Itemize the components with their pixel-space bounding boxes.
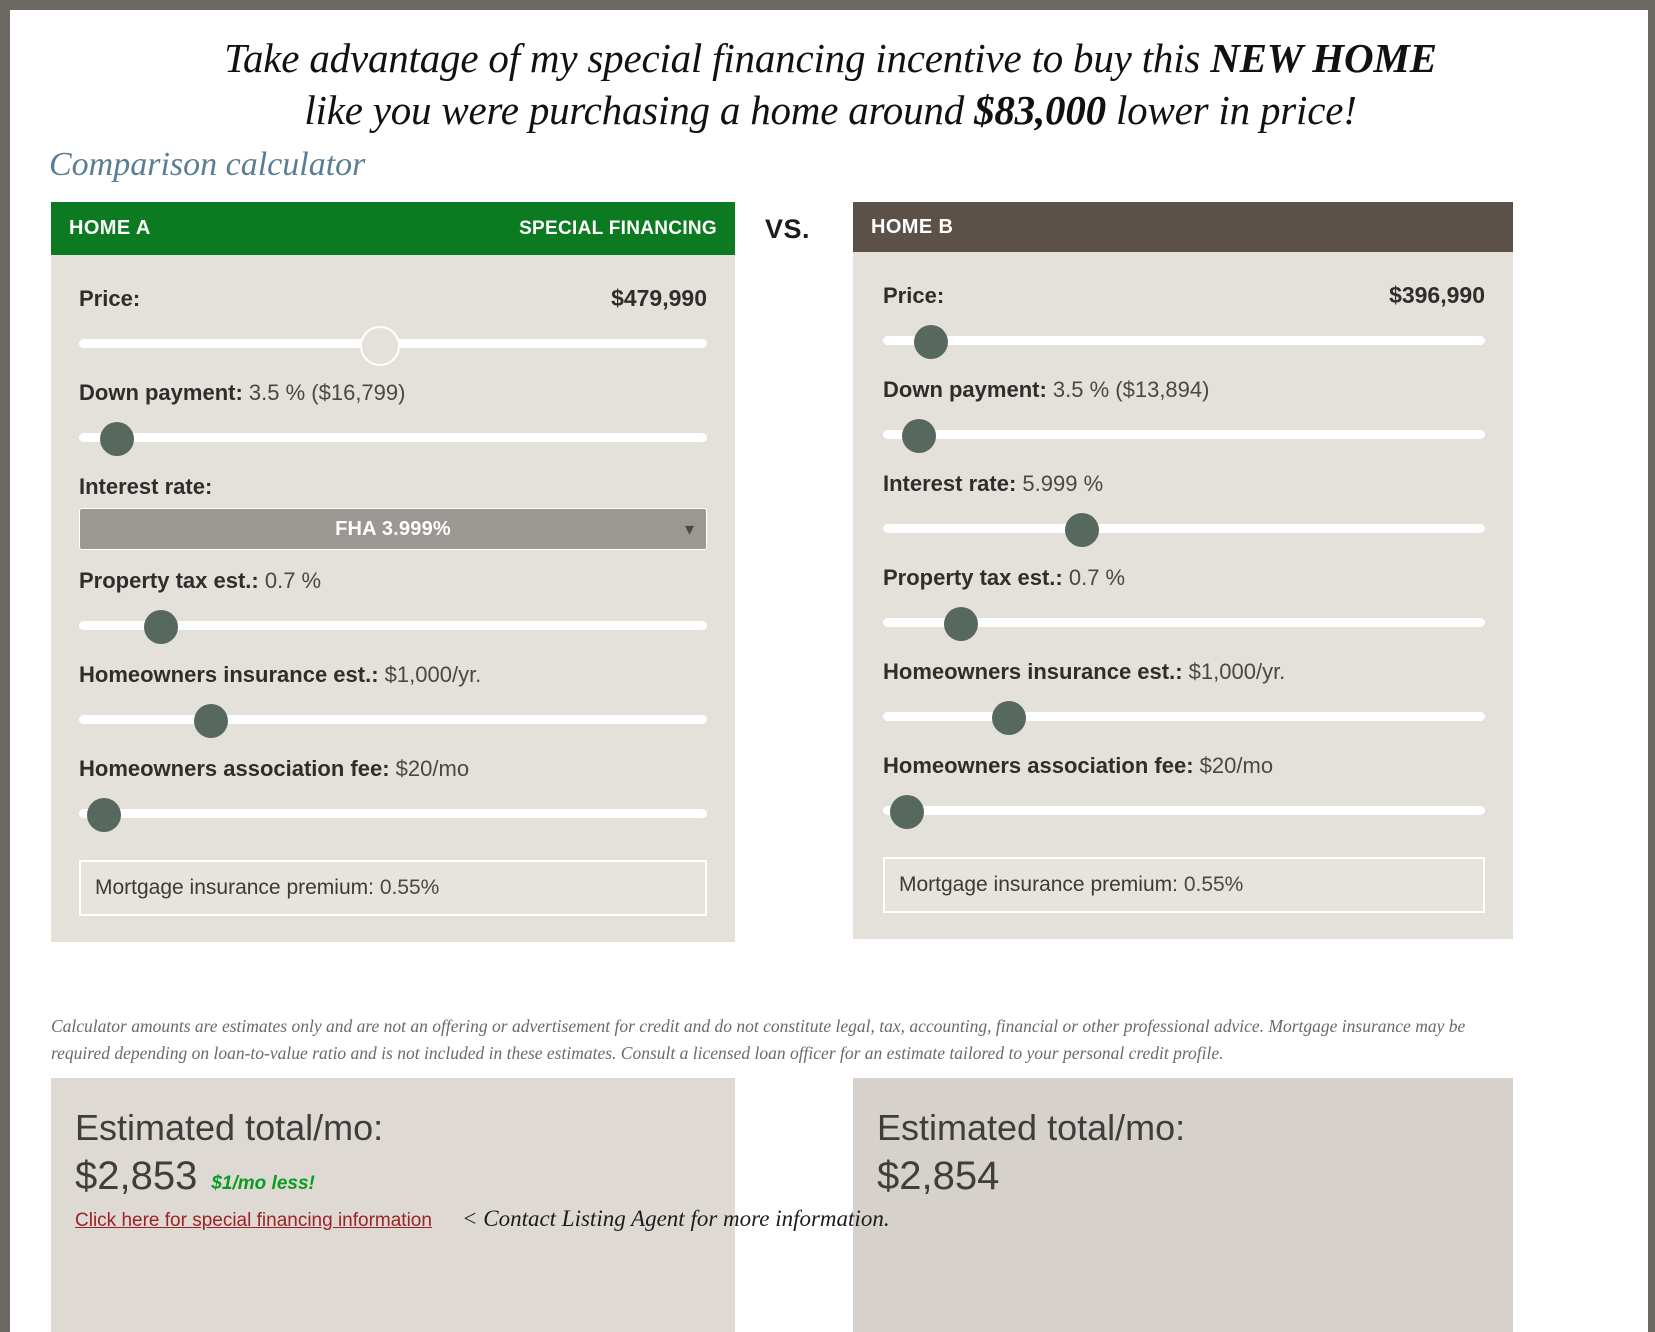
home-b-down-payment-value: 3.5 % ($13,894) bbox=[1053, 377, 1210, 402]
slider-thumb[interactable] bbox=[944, 607, 978, 641]
slider-thumb[interactable] bbox=[890, 795, 924, 829]
home-a-down-payment-row: Down payment: 3.5 % ($16,799) bbox=[79, 366, 707, 456]
home-b-insurance-row: Homeowners insurance est.: $1,000/yr. bbox=[883, 645, 1485, 735]
slider-track[interactable] bbox=[883, 524, 1485, 533]
home-b-property-tax-slider[interactable] bbox=[883, 603, 1485, 641]
home-a-body: Price: $479,990 Down payment: 3.5 % ($16… bbox=[51, 255, 735, 942]
home-a-panel: HOME A SPECIAL FINANCING Price: $479,990 bbox=[51, 202, 735, 942]
home-b-panel: HOME B Price: $396,990 Down payment: bbox=[853, 202, 1513, 939]
home-b-down-payment-row: Down payment: 3.5 % ($13,894) bbox=[883, 363, 1485, 453]
slider-thumb[interactable] bbox=[1065, 513, 1099, 547]
home-a-savings-badge: $1/mo less! bbox=[211, 1173, 315, 1195]
headline-line-2: like you were purchasing a home around $… bbox=[73, 84, 1588, 136]
slider-track[interactable] bbox=[883, 712, 1485, 721]
slider-thumb[interactable] bbox=[87, 798, 121, 832]
home-a-property-tax-value: 0.7 % bbox=[265, 568, 321, 593]
home-a-hoa-value: $20/mo bbox=[396, 756, 469, 781]
home-a-insurance-slider[interactable] bbox=[79, 700, 707, 738]
home-b-down-payment-slider[interactable] bbox=[883, 415, 1485, 453]
home-a-hoa-slider[interactable] bbox=[79, 794, 707, 832]
home-b-insurance-slider[interactable] bbox=[883, 697, 1485, 735]
slider-thumb[interactable] bbox=[992, 701, 1026, 735]
home-b-property-tax-value: 0.7 % bbox=[1069, 565, 1125, 590]
home-a-price-slider[interactable] bbox=[79, 324, 707, 362]
slider-thumb[interactable] bbox=[144, 610, 178, 644]
slider-track[interactable] bbox=[883, 430, 1485, 439]
home-b-interest-rate-slider[interactable] bbox=[883, 509, 1485, 547]
home-a-down-payment-slider[interactable] bbox=[79, 418, 707, 456]
home-b-title: HOME B bbox=[871, 216, 953, 239]
home-a-hoa-row: Homeowners association fee: $20/mo bbox=[79, 742, 707, 832]
home-b-property-tax-row: Property tax est.: 0.7 % bbox=[883, 551, 1485, 641]
home-a-total-label: Estimated total/mo: bbox=[75, 1106, 711, 1150]
home-a-hoa-label: Homeowners association fee: bbox=[79, 756, 390, 781]
home-b-hoa-slider[interactable] bbox=[883, 791, 1485, 829]
comparison-calculator: VS. HOME A SPECIAL FINANCING Price: $479… bbox=[13, 202, 1648, 1002]
home-a-interest-rate-label-row: Interest rate: bbox=[79, 460, 707, 500]
home-a-total-amount: $2,853 bbox=[75, 1154, 197, 1199]
home-b-body: Price: $396,990 Down payment: 3.5 % ($13… bbox=[853, 252, 1513, 939]
home-b-mortgage-insurance-box: Mortgage insurance premium: 0.55% bbox=[883, 857, 1485, 913]
home-a-down-payment-label-row: Down payment: 3.5 % ($16,799) bbox=[79, 366, 707, 406]
home-a-price-label: Price: bbox=[79, 286, 140, 312]
home-a-header: HOME A SPECIAL FINANCING bbox=[51, 202, 735, 255]
vs-label: VS. bbox=[765, 214, 810, 245]
slider-track[interactable] bbox=[883, 336, 1485, 345]
home-a-down-payment-value: 3.5 % ($16,799) bbox=[249, 380, 406, 405]
headline-line-2-suffix: lower in price! bbox=[1106, 87, 1357, 133]
home-b-hoa-label: Homeowners association fee: bbox=[883, 753, 1194, 778]
home-b-insurance-label-row: Homeowners insurance est.: $1,000/yr. bbox=[883, 645, 1485, 685]
home-b-price-row: Price: $396,990 bbox=[883, 268, 1485, 359]
home-b-price-value: $396,990 bbox=[1389, 282, 1485, 309]
home-a-interest-rate-label: Interest rate: bbox=[79, 474, 212, 500]
contact-agent-note: < Contact Listing Agent for more informa… bbox=[462, 1206, 890, 1232]
home-b-property-tax-label: Property tax est.: bbox=[883, 565, 1063, 590]
slider-thumb[interactable] bbox=[914, 325, 948, 359]
home-b-property-tax-label-row: Property tax est.: 0.7 % bbox=[883, 551, 1485, 591]
home-a-property-tax-label: Property tax est.: bbox=[79, 568, 259, 593]
special-financing-badge: SPECIAL FINANCING bbox=[519, 218, 717, 240]
home-b-interest-rate-row: Interest rate: 5.999 % bbox=[883, 457, 1485, 547]
slider-thumb[interactable] bbox=[360, 326, 400, 366]
home-a-total-card: Estimated total/mo: $2,853 $1/mo less! bbox=[51, 1078, 735, 1332]
home-a-interest-rate-select[interactable]: FHA 3.999% ▾ bbox=[79, 508, 707, 550]
home-b-insurance-value: $1,000/yr. bbox=[1189, 659, 1286, 684]
home-a-insurance-row: Homeowners insurance est.: $1,000/yr. bbox=[79, 648, 707, 738]
home-a-insurance-label-row: Homeowners insurance est.: $1,000/yr. bbox=[79, 648, 707, 688]
home-a-interest-rate-selected: FHA 3.999% bbox=[335, 518, 451, 541]
home-a-insurance-value: $1,000/yr. bbox=[385, 662, 482, 687]
home-b-price-slider[interactable] bbox=[883, 321, 1485, 359]
home-a-mortgage-insurance-label: Mortgage insurance premium: bbox=[95, 876, 374, 899]
home-a-hoa-label-row: Homeowners association fee: $20/mo bbox=[79, 742, 707, 782]
home-b-total-card: Estimated total/mo: $2,854 bbox=[853, 1078, 1513, 1332]
slider-thumb[interactable] bbox=[194, 704, 228, 738]
home-a-price-row: Price: $479,990 bbox=[79, 271, 707, 362]
home-b-down-payment-label-row: Down payment: 3.5 % ($13,894) bbox=[883, 363, 1485, 403]
headline-line-1-emphasis: NEW HOME bbox=[1210, 35, 1437, 81]
home-a-property-tax-label-row: Property tax est.: 0.7 % bbox=[79, 554, 707, 594]
home-b-total-amount-row: $2,854 bbox=[877, 1154, 1489, 1199]
home-b-total-label: Estimated total/mo: bbox=[877, 1106, 1489, 1150]
home-b-hoa-row: Homeowners association fee: $20/mo bbox=[883, 739, 1485, 829]
home-b-price-label-row: Price: $396,990 bbox=[883, 268, 1485, 309]
home-b-interest-rate-label-row: Interest rate: 5.999 % bbox=[883, 457, 1485, 497]
slider-track[interactable] bbox=[79, 715, 707, 724]
home-b-price-label: Price: bbox=[883, 283, 944, 309]
page-title: Comparison calculator bbox=[13, 136, 1648, 184]
home-b-header: HOME B bbox=[853, 202, 1513, 252]
home-b-insurance-label: Homeowners insurance est.: bbox=[883, 659, 1183, 684]
headline-line-2-emphasis: $83,000 bbox=[974, 87, 1106, 133]
home-a-property-tax-row: Property tax est.: 0.7 % bbox=[79, 554, 707, 644]
calculator-disclaimer: Calculator amounts are estimates only an… bbox=[51, 1013, 1513, 1067]
slider-track[interactable] bbox=[79, 809, 707, 818]
promo-headline: Take advantage of my special financing i… bbox=[13, 10, 1648, 136]
home-a-mortgage-insurance-value: 0.55% bbox=[380, 876, 440, 899]
home-b-hoa-label-row: Homeowners association fee: $20/mo bbox=[883, 739, 1485, 779]
home-a-price-value: $479,990 bbox=[611, 285, 707, 312]
home-b-down-payment-label: Down payment: bbox=[883, 377, 1047, 402]
home-b-mortgage-insurance-value: 0.55% bbox=[1184, 873, 1244, 896]
home-a-mortgage-insurance-box: Mortgage insurance premium: 0.55% bbox=[79, 860, 707, 916]
slider-thumb[interactable] bbox=[902, 419, 936, 453]
home-a-title: HOME A bbox=[69, 217, 151, 240]
home-a-insurance-label: Homeowners insurance est.: bbox=[79, 662, 379, 687]
headline-line-1-text: Take advantage of my special financing i… bbox=[224, 35, 1210, 81]
page-frame: Take advantage of my special financing i… bbox=[10, 10, 1648, 1332]
special-financing-link[interactable]: Click here for special financing informa… bbox=[75, 1210, 432, 1232]
footer-links: Click here for special financing informa… bbox=[75, 1206, 890, 1232]
slider-track[interactable] bbox=[79, 433, 707, 442]
home-b-hoa-value: $20/mo bbox=[1200, 753, 1273, 778]
slider-thumb[interactable] bbox=[100, 422, 134, 456]
headline-line-2-text: like you were purchasing a home around bbox=[304, 87, 974, 133]
home-b-total-amount: $2,854 bbox=[877, 1154, 999, 1199]
headline-line-1: Take advantage of my special financing i… bbox=[73, 32, 1588, 84]
home-a-price-label-row: Price: $479,990 bbox=[79, 271, 707, 312]
chevron-down-icon: ▾ bbox=[685, 519, 694, 540]
home-a-interest-rate-row: Interest rate: FHA 3.999% ▾ bbox=[79, 460, 707, 550]
home-a-down-payment-label: Down payment: bbox=[79, 380, 243, 405]
home-a-property-tax-slider[interactable] bbox=[79, 606, 707, 644]
home-a-total-amount-row: $2,853 $1/mo less! bbox=[75, 1154, 711, 1199]
home-b-interest-rate-label: Interest rate: bbox=[883, 471, 1016, 496]
slider-track[interactable] bbox=[883, 806, 1485, 815]
home-b-mortgage-insurance-label: Mortgage insurance premium: bbox=[899, 873, 1178, 896]
home-b-interest-rate-value: 5.999 % bbox=[1022, 471, 1103, 496]
